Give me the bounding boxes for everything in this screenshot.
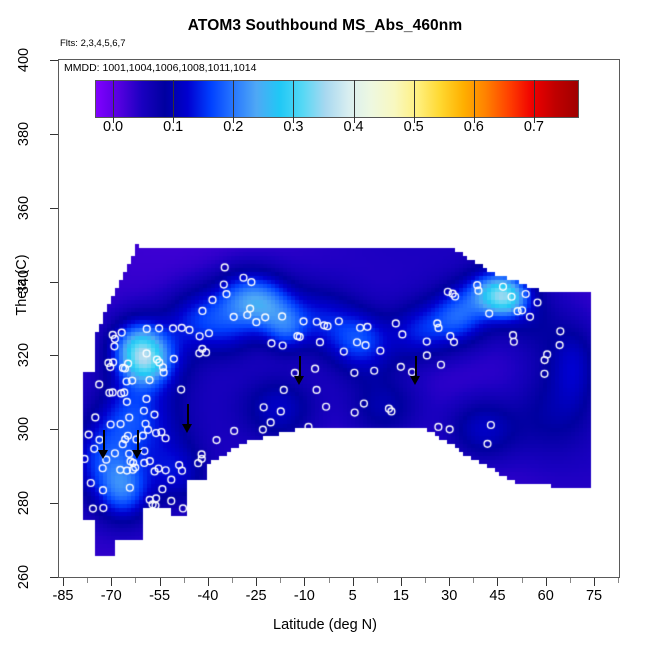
x-axis-tick [353,578,354,586]
x-axis-tick-label: -70 [101,588,122,604]
colorbar-tick [354,80,355,118]
colorbar-tick-label: 0.4 [343,119,363,135]
x-axis-minor-tick [280,578,281,583]
colorbar-tick-label: 0.3 [283,119,303,135]
x-axis-tick-label: 15 [393,588,409,604]
y-axis-tick [50,60,58,61]
x-axis-minor-tick [329,578,330,583]
x-axis-minor-tick [135,578,136,583]
colorbar-tick [293,80,294,118]
colorbar-tick-label: 0.6 [464,119,484,135]
x-axis-tick [256,578,257,586]
colorbar-tick [414,80,415,118]
x-axis-tick-label: -25 [246,588,267,604]
y-axis-tick [50,577,58,578]
x-axis-tick-label: 30 [441,588,457,604]
y-axis-tick [50,282,58,283]
colorbar-tick-label: 0.7 [524,119,544,135]
x-axis-minor-tick [522,578,523,583]
x-axis-tick-label: 75 [586,588,602,604]
colorbar-tick [534,80,535,118]
colorbar-tick-label: 0.5 [404,119,424,135]
y-axis-tick-label: 300 [14,407,34,451]
x-axis-tick [208,578,209,586]
x-axis-minor-tick [425,578,426,583]
flights-annotation: Flts: 2,3,4,5,6,7 [60,38,125,49]
colorbar-tick-marks [95,80,579,118]
colorbar-tick [233,80,234,118]
y-axis-tick [50,134,58,135]
x-axis-tick [546,578,547,586]
x-axis-tick-label: 60 [538,588,554,604]
y-axis-tick [50,208,58,209]
x-axis-tick [497,578,498,586]
x-axis-tick-label: 5 [349,588,357,604]
x-axis-tick-label: 45 [489,588,505,604]
colorbar-tick-label: 0.0 [103,119,123,135]
x-axis-tick-label: -40 [197,588,218,604]
y-axis-tick-label-wrap: 260 [2,567,46,587]
page-title: ATOM3 Southbound MS_Abs_460nm [0,17,650,35]
x-axis-minor-tick [473,578,474,583]
colorbar-tick-labels: 0.00.10.20.30.40.50.60.7 [95,119,579,141]
x-axis-tick-label: -55 [149,588,170,604]
x-axis-minor-tick [87,578,88,583]
colorbar-tick-label: 0.1 [163,119,183,135]
y-axis-tick-label: 260 [14,555,34,599]
colorbar-tick [113,80,114,118]
y-axis-label: Theta (C) [14,215,30,355]
colorbar-tick [474,80,475,118]
x-axis-tick-label: -10 [294,588,315,604]
colorbar-tick [173,80,174,118]
x-axis-minor-tick [184,578,185,583]
y-axis-tick [50,355,58,356]
x-axis-tick [160,578,161,586]
x-axis-tick [63,578,64,586]
y-axis-tick-label-wrap: 400 [2,50,46,70]
x-axis-minor-tick [618,578,619,583]
x-axis-label: Latitude (deg N) [0,617,650,633]
y-axis-tick [50,503,58,504]
x-axis-minor-tick [232,578,233,583]
y-axis-tick [50,429,58,430]
y-axis-tick-label-wrap: 300 [2,419,46,439]
x-axis-minor-tick [377,578,378,583]
x-axis-tick-label: -85 [53,588,74,604]
y-axis-tick-label-wrap: 280 [2,493,46,513]
y-axis-tick-label: 280 [14,481,34,525]
colorbar: 0.00.10.20.30.40.50.60.7 [95,80,579,118]
x-axis-minor-tick [570,578,571,583]
x-axis-tick [304,578,305,586]
y-axis-tick-label: 380 [14,112,34,156]
x-axis-tick [401,578,402,586]
y-axis-tick-label: 400 [14,38,34,82]
x-axis-tick [111,578,112,586]
y-axis-tick-label-wrap: 380 [2,124,46,144]
x-axis-tick [449,578,450,586]
colorbar-tick-label: 0.2 [223,119,243,135]
x-axis-tick [594,578,595,586]
